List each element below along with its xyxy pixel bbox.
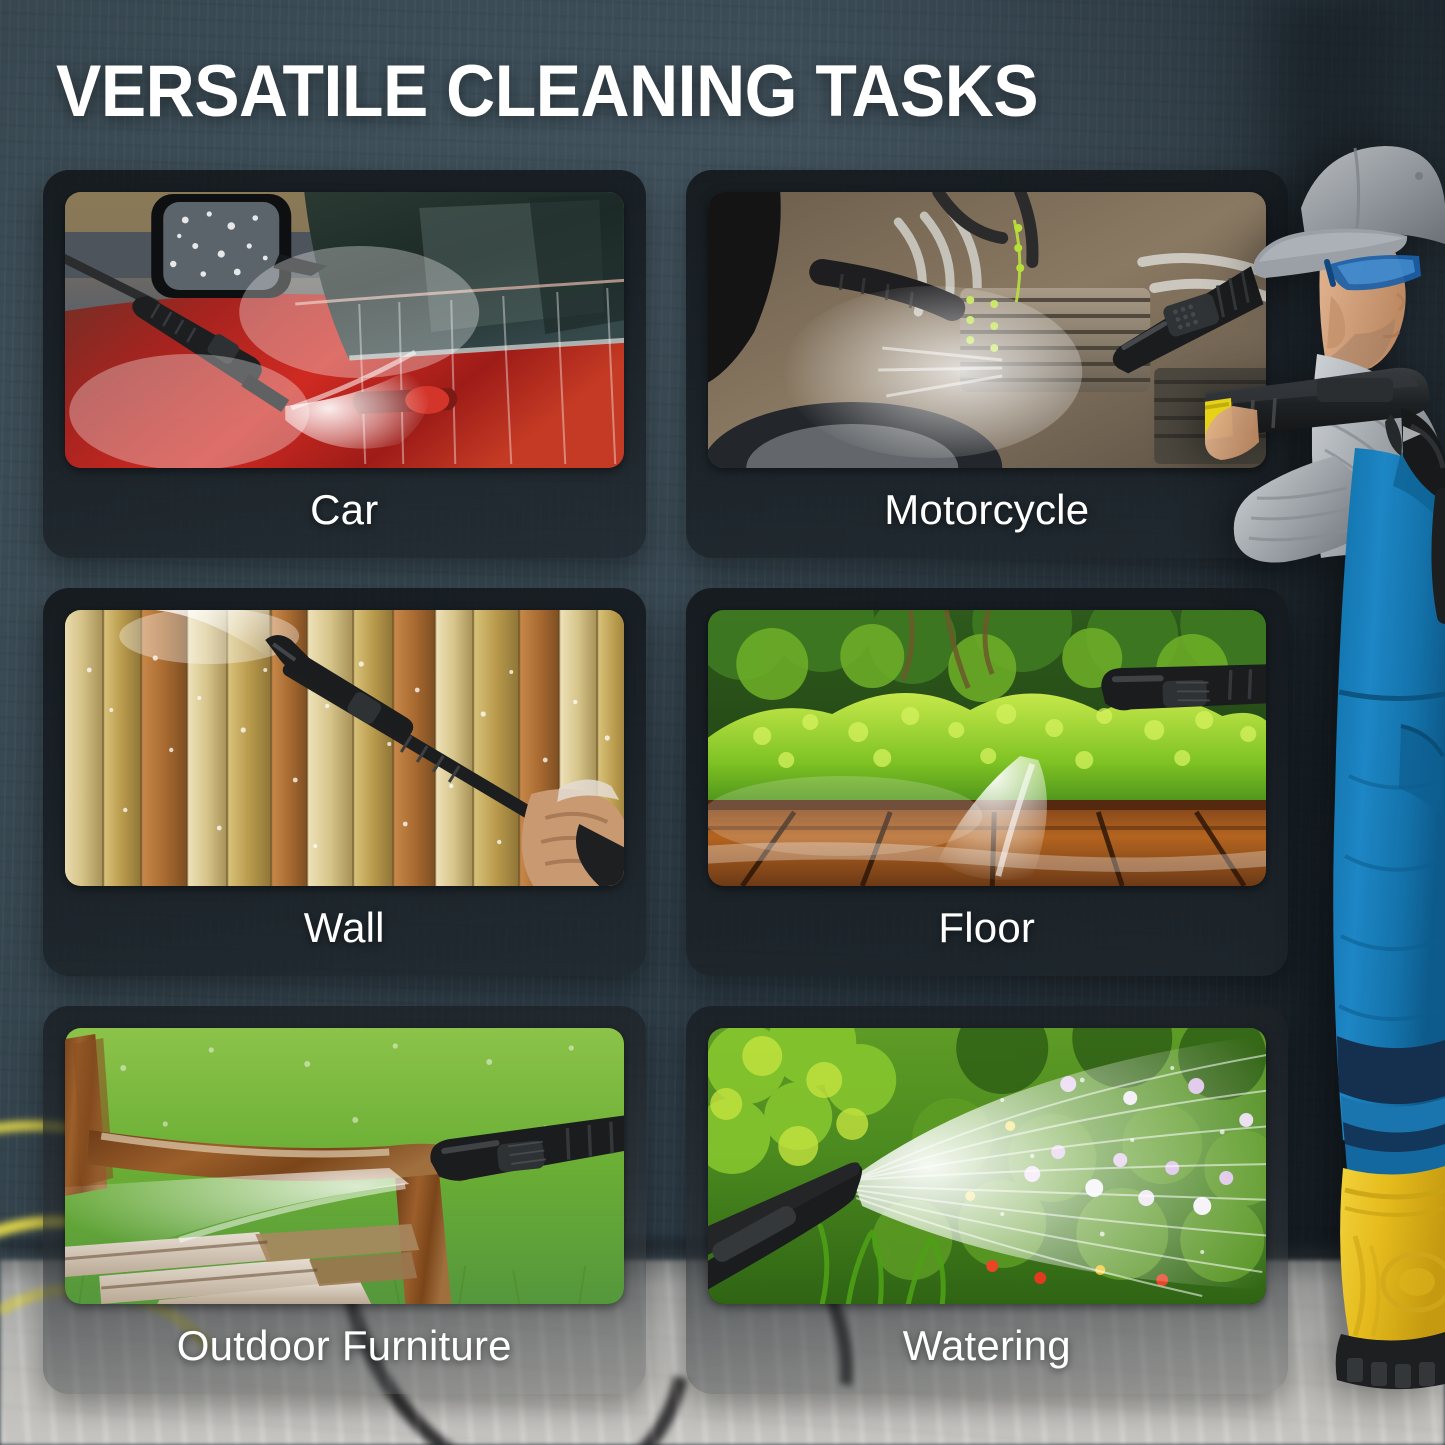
pressure-washer-spraying-motorcycle-engine-image (708, 192, 1267, 468)
pressure-washer-cleaning-wooden-deck-floor-image (708, 610, 1267, 886)
task-card-label: Wall (65, 886, 624, 976)
task-card-motorcycle[interactable]: Motorcycle (686, 170, 1289, 558)
task-card-outdoor-furniture[interactable]: Outdoor Furniture (43, 1006, 646, 1394)
task-card-label: Motorcycle (708, 468, 1267, 558)
task-card-label: Outdoor Furniture (65, 1304, 624, 1394)
task-card-label: Floor (708, 886, 1267, 976)
operator-with-pressure-washer-gun (1205, 96, 1445, 1396)
pressure-washer-cleaning-wooden-bench-image (65, 1028, 624, 1304)
pressure-washer-cleaning-wooden-fence-wall-image (65, 610, 624, 886)
page-title: VERSATILE CLEANING TASKS (56, 55, 1038, 128)
task-card-car[interactable]: Car (43, 170, 646, 558)
cleaning-tasks-grid: Car (43, 170, 1288, 1394)
task-card-label: Car (65, 468, 624, 558)
task-card-wall[interactable]: Wall (43, 588, 646, 976)
task-card-label: Watering (708, 1304, 1267, 1394)
pressure-washer-fan-spray-watering-garden-image (708, 1028, 1267, 1304)
pressure-washer-spraying-red-car-door-image (65, 192, 624, 468)
task-card-watering[interactable]: Watering (686, 1006, 1289, 1394)
task-card-floor[interactable]: Floor (686, 588, 1289, 976)
